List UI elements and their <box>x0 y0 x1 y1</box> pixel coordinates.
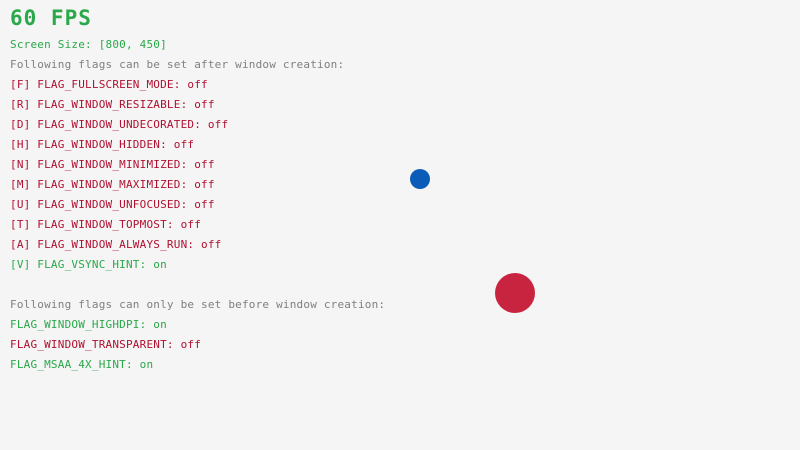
hud-overlay: 60 FPS Screen Size: [800, 450] Following… <box>0 0 800 450</box>
flag-row-fullscreen-mode[interactable]: [F] FLAG_FULLSCREEN_MODE: off <box>10 79 208 90</box>
flag-row-window-resizable[interactable]: [R] FLAG_WINDOW_RESIZABLE: off <box>10 99 215 110</box>
app-window: 60 FPS Screen Size: [800, 450] Following… <box>0 0 800 450</box>
runtime-flags-heading: Following flags can be set after window … <box>10 59 344 70</box>
flag-row-window-minimized[interactable]: [N] FLAG_WINDOW_MINIMIZED: off <box>10 159 215 170</box>
fps-counter: 60 FPS <box>10 8 92 29</box>
flag-row-msaa-4x-hint: FLAG_MSAA_4X_HINT: on <box>10 359 153 370</box>
flag-row-window-maximized[interactable]: [M] FLAG_WINDOW_MAXIMIZED: off <box>10 179 215 190</box>
flag-row-window-hidden[interactable]: [H] FLAG_WINDOW_HIDDEN: off <box>10 139 194 150</box>
flag-row-window-unfocused[interactable]: [U] FLAG_WINDOW_UNFOCUSED: off <box>10 199 215 210</box>
red-ball <box>495 273 535 313</box>
flag-row-window-transparent: FLAG_WINDOW_TRANSPARENT: off <box>10 339 201 350</box>
screen-size-label: Screen Size: [800, 450] <box>10 39 167 50</box>
flag-row-window-highdpi: FLAG_WINDOW_HIGHDPI: on <box>10 319 167 330</box>
creation-flags-heading: Following flags can only be set before w… <box>10 299 385 310</box>
flag-row-window-topmost[interactable]: [T] FLAG_WINDOW_TOPMOST: off <box>10 219 201 230</box>
flag-row-vsync-hint[interactable]: [V] FLAG_VSYNC_HINT: on <box>10 259 167 270</box>
flag-row-window-always-run[interactable]: [A] FLAG_WINDOW_ALWAYS_RUN: off <box>10 239 222 250</box>
blue-ball <box>410 169 430 189</box>
flag-row-window-undecorated[interactable]: [D] FLAG_WINDOW_UNDECORATED: off <box>10 119 228 130</box>
